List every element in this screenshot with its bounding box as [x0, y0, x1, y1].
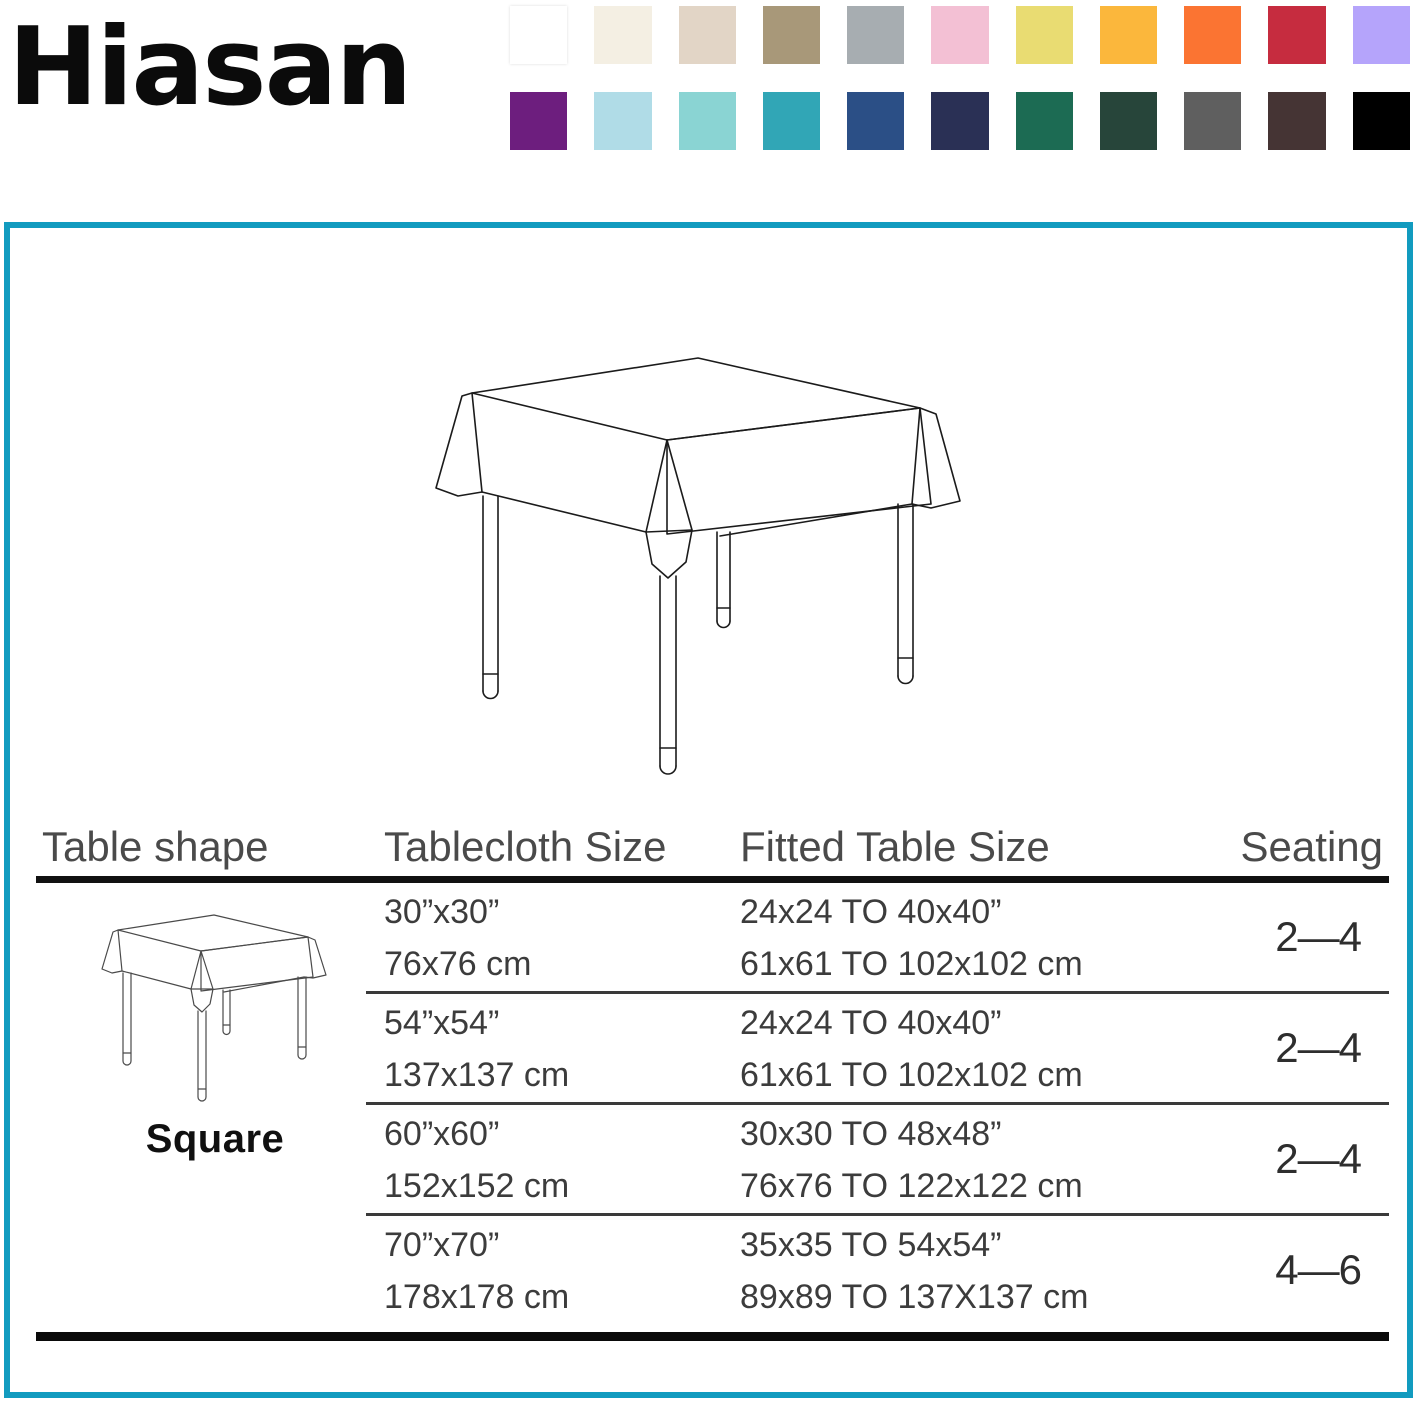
cell-cloth-size-inches: 30”x30” [384, 893, 499, 931]
cell-fitted-size-cm: 61x61 TO 102x102 cm [740, 945, 1083, 983]
color-swatch-gold[interactable] [1100, 6, 1157, 64]
cell-fitted-size-cm: 76x76 TO 122x122 cm [740, 1167, 1083, 1205]
cell-fitted-size-inches: 35x35 TO 54x54” [740, 1226, 1001, 1264]
cell-cloth-size-inches: 70”x70” [384, 1226, 499, 1264]
color-swatch-row-1 [510, 6, 1410, 64]
cell-cloth-size-cm: 178x178 cm [384, 1278, 569, 1316]
size-table-body: Square 30”x30” 76x76 cm 24x24 TO 40x40” … [36, 883, 1389, 1324]
color-swatch-purple[interactable] [510, 92, 567, 150]
cell-seating: 2—4 [1275, 1135, 1361, 1183]
column-header-fitted-size: Fitted Table Size [740, 824, 1050, 870]
cell-cloth-size-cm: 152x152 cm [384, 1167, 569, 1205]
cell-seating: 4—6 [1275, 1246, 1361, 1294]
cell-seating: 2—4 [1275, 1024, 1361, 1072]
color-swatch-white[interactable] [510, 6, 567, 64]
color-swatch-grid [510, 6, 1410, 178]
table-row: 30”x30” 76x76 cm 24x24 TO 40x40” 61x61 T… [36, 883, 1389, 991]
color-swatch-taupe[interactable] [763, 6, 820, 64]
color-swatch-aqua[interactable] [679, 92, 736, 150]
color-swatch-beige[interactable] [679, 6, 736, 64]
color-swatch-pink[interactable] [931, 6, 988, 64]
size-table: Table shape Tablecloth Size Fitted Table… [36, 808, 1389, 1341]
header-divider [36, 876, 1389, 883]
cell-cloth-size-cm: 137x137 cm [384, 1056, 569, 1094]
cell-fitted-size-inches: 24x24 TO 40x40” [740, 1004, 1001, 1042]
color-swatch-lavender[interactable] [1353, 6, 1410, 64]
square-table-illustration [420, 336, 980, 796]
cell-fitted-size-cm: 89x89 TO 137X137 cm [740, 1278, 1088, 1316]
column-header-cloth-size: Tablecloth Size [384, 824, 667, 870]
column-header-table-shape: Table shape [42, 824, 269, 870]
color-swatch-yellow[interactable] [1016, 6, 1073, 64]
table-row: 70”x70” 178x178 cm 35x35 TO 54x54” 89x89… [36, 1216, 1389, 1324]
color-swatch-row-2 [510, 92, 1410, 150]
cell-cloth-size-inches: 60”x60” [384, 1115, 499, 1153]
size-chart-panel: Table shape Tablecloth Size Fitted Table… [4, 222, 1413, 1398]
column-header-seating: Seating [1241, 824, 1383, 870]
cell-cloth-size-cm: 76x76 cm [384, 945, 531, 983]
cell-cloth-size-inches: 54”x54” [384, 1004, 499, 1042]
color-swatch-ivory[interactable] [594, 6, 651, 64]
color-swatch-orange[interactable] [1184, 6, 1241, 64]
color-swatch-grey[interactable] [847, 6, 904, 64]
color-swatch-black[interactable] [1353, 92, 1410, 150]
color-swatch-navy[interactable] [931, 92, 988, 150]
color-swatch-dark-grey[interactable] [1184, 92, 1241, 150]
cell-fitted-size-cm: 61x61 TO 102x102 cm [740, 1056, 1083, 1094]
cell-fitted-size-inches: 24x24 TO 40x40” [740, 893, 1001, 931]
color-swatch-dark-brown[interactable] [1268, 92, 1325, 150]
size-chart-page: Hiasan [0, 0, 1417, 1402]
color-swatch-forest-green[interactable] [1100, 92, 1157, 150]
table-row: 60”x60” 152x152 cm 30x30 TO 48x48” 76x76… [36, 1105, 1389, 1213]
color-swatch-teal[interactable] [763, 92, 820, 150]
color-swatch-denim-blue[interactable] [847, 92, 904, 150]
table-row: 54”x54” 137x137 cm 24x24 TO 40x40” 61x61… [36, 994, 1389, 1102]
table-bottom-divider [36, 1332, 1389, 1341]
size-table-header-row: Table shape Tablecloth Size Fitted Table… [36, 808, 1389, 870]
color-swatch-light-blue[interactable] [594, 92, 651, 150]
cell-fitted-size-inches: 30x30 TO 48x48” [740, 1115, 1001, 1153]
color-swatch-red[interactable] [1268, 6, 1325, 64]
color-swatch-emerald[interactable] [1016, 92, 1073, 150]
cell-seating: 2—4 [1275, 913, 1361, 961]
brand-logo: Hiasan [8, 8, 478, 128]
